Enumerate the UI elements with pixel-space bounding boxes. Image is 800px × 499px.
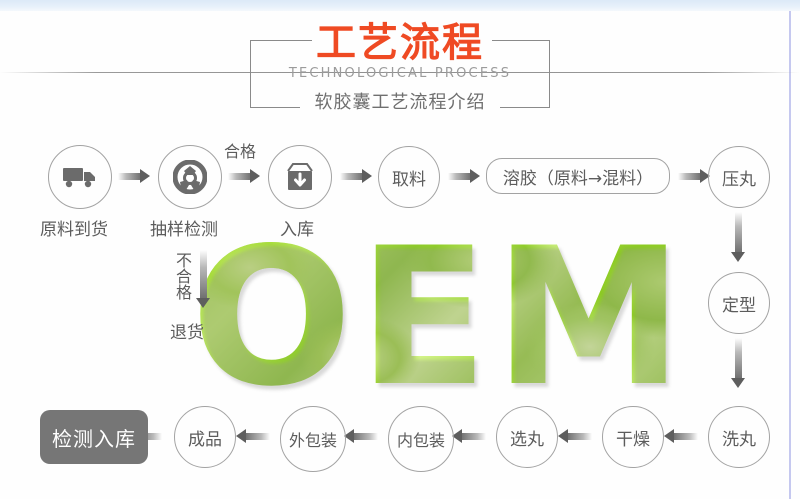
- node-inner-packaging[interactable]: 内包装: [388, 406, 454, 472]
- node-sampling-inspection[interactable]: [158, 145, 222, 209]
- node-final-inspection-storage[interactable]: 检测入库: [40, 410, 148, 464]
- node-pill-washing[interactable]: 洗丸: [708, 406, 770, 468]
- arrow-pickup-to-gelatin: [448, 169, 480, 183]
- arrow-outer-pack-to-finished: [236, 429, 270, 443]
- header: 工艺流程 TECHNOLOGICAL PROCESS 软胶囊工艺流程介绍: [0, 22, 800, 114]
- node-outer-packaging[interactable]: 外包装: [280, 406, 346, 472]
- node-pill-pressing[interactable]: 压丸: [708, 146, 770, 208]
- node-raw-material-arrival[interactable]: [48, 145, 112, 209]
- arrow-label-fail: 不合格: [170, 252, 194, 300]
- arrow-pressing-to-shaping: [731, 212, 745, 262]
- arrow-warehouse-to-pickup: [340, 169, 372, 183]
- arrow-drying-to-selecting: [558, 429, 592, 443]
- node-pill-selecting[interactable]: 选丸: [496, 406, 558, 468]
- arrow-sampling-to-reject: [196, 250, 210, 308]
- arrow-gelatin-to-pressing: [678, 169, 710, 183]
- arrow-selecting-to-inner-pack: [452, 429, 486, 443]
- truck-icon: [63, 165, 97, 189]
- node-shaping[interactable]: 定型: [708, 272, 770, 334]
- node-drying[interactable]: 干燥: [602, 406, 664, 468]
- inspection-icon: [173, 160, 207, 194]
- process-flow-infographic: 工艺流程 TECHNOLOGICAL PROCESS 软胶囊工艺流程介绍 OEM…: [0, 0, 800, 499]
- arrow-inner-to-outer-pack: [344, 429, 378, 443]
- arrow-arrival-to-sampling: [118, 169, 150, 183]
- node-finished-product[interactable]: 成品: [174, 406, 236, 468]
- page-title: 工艺流程: [0, 22, 800, 64]
- top-blue-band: [0, 0, 800, 11]
- arrow-sampling-to-warehouse: [228, 169, 260, 183]
- node-gelatin-dissolving[interactable]: 溶胶（原料→混料）: [486, 158, 670, 194]
- caption-warehouse-in: 入库: [280, 215, 314, 240]
- arrow-label-pass: 合格: [224, 138, 256, 162]
- oem-watermark: OEM: [190, 228, 690, 408]
- page-title-english: TECHNOLOGICAL PROCESS: [0, 66, 800, 82]
- arrow-shaping-to-washing: [731, 338, 745, 388]
- node-reject-return: 退货: [170, 318, 204, 343]
- page-subtitle: 软胶囊工艺流程介绍: [0, 92, 800, 114]
- arrow-washing-to-drying: [664, 429, 698, 443]
- node-pickup[interactable]: 取料: [378, 146, 440, 208]
- node-warehouse-in[interactable]: [268, 145, 332, 209]
- caption-sampling-inspection: 抽样检测: [150, 215, 218, 240]
- caption-raw-material-arrival: 原料到货: [40, 215, 108, 240]
- inbox-arrow-icon: [284, 162, 316, 192]
